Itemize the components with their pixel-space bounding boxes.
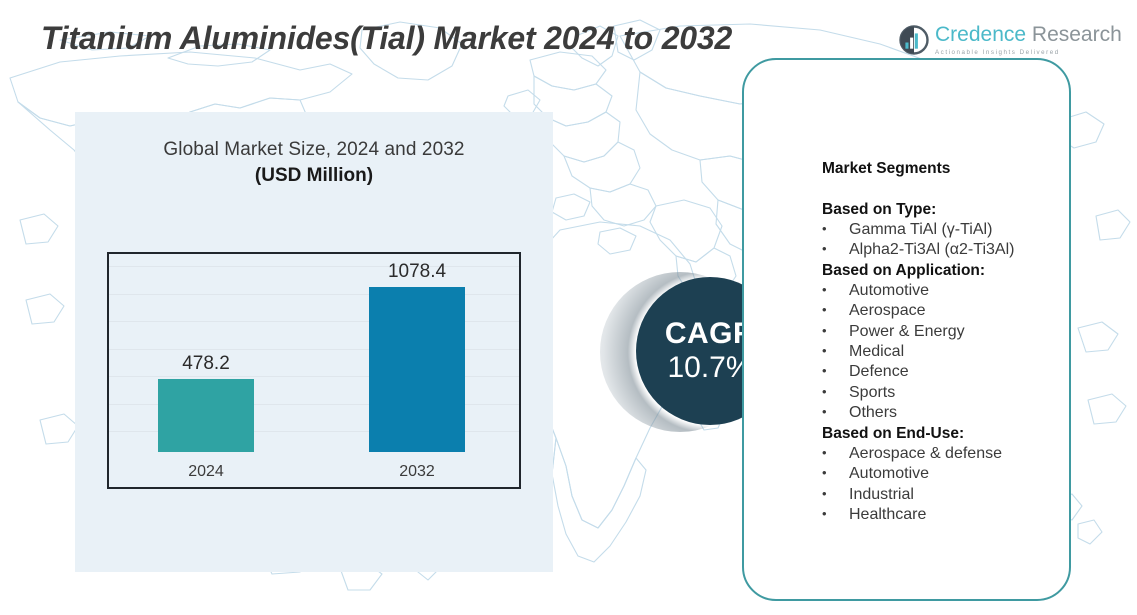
logo-name-primary: Credence bbox=[935, 23, 1026, 46]
segment-list-item: •Alpha2-Ti3Al (α2-Ti3Al) bbox=[822, 240, 1092, 260]
segment-item-label: Alpha2-Ti3Al (α2-Ti3Al) bbox=[849, 240, 1014, 260]
segment-item-label: Medical bbox=[849, 342, 904, 362]
segment-list-item: •Gamma TiAl (γ-TiAl) bbox=[822, 220, 1092, 240]
bullet-icon: • bbox=[822, 362, 849, 382]
logo-wordmark: Credence Research Actionable Insights De… bbox=[935, 24, 1122, 56]
segment-list-item: •Aerospace & defense bbox=[822, 444, 1092, 464]
segment-groups: Based on Type:•Gamma TiAl (γ-TiAl)•Alpha… bbox=[822, 200, 1092, 526]
brand-logo: Credence Research Actionable Insights De… bbox=[899, 24, 1122, 56]
segment-item-label: Healthcare bbox=[849, 505, 926, 525]
page-title: Titanium Aluminides(Tial) Market 2024 to… bbox=[41, 20, 732, 57]
chart-category-label: 2024 bbox=[128, 463, 284, 481]
segment-list-item: •Medical bbox=[822, 342, 1092, 362]
segment-item-label: Aerospace bbox=[849, 301, 926, 321]
segment-list-item: •Others bbox=[822, 403, 1092, 423]
segment-item-label: Sports bbox=[849, 383, 895, 403]
market-segments-heading: Market Segments bbox=[822, 160, 1092, 178]
market-segments-content: Market Segments Based on Type:•Gamma TiA… bbox=[822, 160, 1092, 526]
logo-tagline: Actionable Insights Delivered bbox=[935, 49, 1122, 56]
bullet-icon: • bbox=[822, 464, 849, 484]
segment-item-label: Gamma TiAl (γ-TiAl) bbox=[849, 220, 992, 240]
segment-item-label: Others bbox=[849, 403, 897, 423]
bullet-icon: • bbox=[822, 322, 849, 342]
bullet-icon: • bbox=[822, 444, 849, 464]
bar-chart: 478.220241078.42032 bbox=[107, 252, 521, 489]
bullet-icon: • bbox=[822, 281, 849, 301]
segment-item-label: Aerospace & defense bbox=[849, 444, 1002, 464]
segment-item-label: Defence bbox=[849, 362, 909, 382]
segment-list-item: •Sports bbox=[822, 383, 1092, 403]
bullet-icon: • bbox=[822, 505, 849, 525]
segment-list-item: •Healthcare bbox=[822, 505, 1092, 525]
segment-list-item: •Automotive bbox=[822, 281, 1092, 301]
chart-subtitle: (USD Million) bbox=[75, 165, 553, 187]
segment-item-label: Automotive bbox=[849, 281, 929, 301]
segment-item-label: Automotive bbox=[849, 464, 929, 484]
bullet-icon: • bbox=[822, 485, 849, 505]
chart-bar-value: 478.2 bbox=[128, 353, 284, 375]
bullet-icon: • bbox=[822, 301, 849, 321]
bullet-icon: • bbox=[822, 403, 849, 423]
segment-group-title: Based on Type: bbox=[822, 200, 1092, 220]
logo-name-secondary: Research bbox=[1026, 23, 1122, 46]
logo-name: Credence Research bbox=[935, 23, 1122, 46]
chart-bar-value: 1078.4 bbox=[339, 261, 495, 283]
chart-title: Global Market Size, 2024 and 2032 bbox=[75, 139, 553, 161]
segment-group-title: Based on End-Use: bbox=[822, 424, 1092, 444]
chart-bar bbox=[158, 379, 254, 452]
chart-category-label: 2032 bbox=[339, 463, 495, 481]
segment-list-item: •Automotive bbox=[822, 464, 1092, 484]
segment-list-item: •Defence bbox=[822, 362, 1092, 382]
segment-list-item: •Industrial bbox=[822, 485, 1092, 505]
infographic-canvas: Titanium Aluminides(Tial) Market 2024 to… bbox=[0, 0, 1137, 615]
bullet-icon: • bbox=[822, 383, 849, 403]
bullet-icon: • bbox=[822, 240, 849, 260]
segment-list-item: •Power & Energy bbox=[822, 322, 1092, 342]
segment-group-title: Based on Application: bbox=[822, 261, 1092, 281]
segment-item-label: Industrial bbox=[849, 485, 914, 505]
chart-bar bbox=[369, 287, 465, 452]
segment-list-item: •Aerospace bbox=[822, 301, 1092, 321]
bullet-icon: • bbox=[822, 220, 849, 240]
credence-logo-icon bbox=[899, 25, 929, 55]
bullet-icon: • bbox=[822, 342, 849, 362]
segment-item-label: Power & Energy bbox=[849, 322, 965, 342]
cagr-value: 10.7% bbox=[667, 351, 752, 385]
